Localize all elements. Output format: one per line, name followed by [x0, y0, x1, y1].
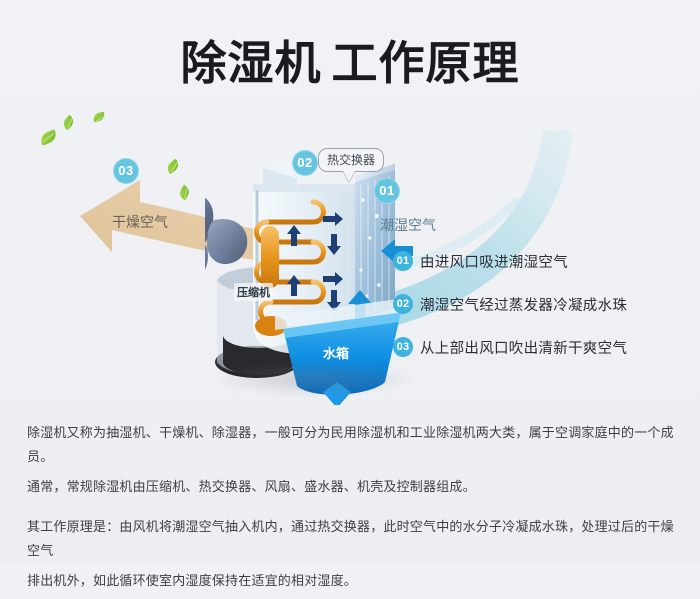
list-item: 01 由进风口吸进潮湿空气 — [393, 250, 693, 272]
leaf-icon — [61, 115, 76, 131]
step-badge-02: 02 — [393, 294, 413, 314]
paragraph-2: 其工作原理是：由风机将潮湿空气抽入机内，通过热交换器，此时空气中的水分子冷凝成水… — [27, 515, 675, 563]
page-root: 除湿机工作原理 — [0, 0, 700, 566]
compressor-label: 压缩机 — [234, 283, 273, 301]
water-tank-label: 水箱 — [320, 342, 352, 363]
list-item: 03 从上部出风口吹出清新干爽空气 — [393, 336, 693, 358]
leaf-icon — [39, 129, 59, 146]
step-badge-03: 03 — [393, 337, 413, 357]
steps-list: 01 由进风口吸进潮湿空气 02 潮湿空气经过蒸发器冷凝成水珠 03 从上部出风… — [393, 250, 693, 358]
step-text-03: 从上部出风口吹出清新干爽空气 — [420, 337, 627, 358]
page-title-main: 除湿机 — [181, 37, 322, 89]
diagram-badge-01: 01 — [374, 178, 400, 204]
heat-exchanger-callout-text: 热交换器 — [327, 153, 375, 167]
step-text-02: 潮湿空气经过蒸发器冷凝成水珠 — [420, 294, 627, 315]
leaf-icon — [92, 112, 106, 123]
body-copy: 除湿机又称为抽湿机、干燥机、除湿器，一般可分为民用除湿机和工业除湿机两大类，属于… — [27, 421, 675, 599]
diagram-badge-03: 03 — [113, 158, 139, 184]
heat-exchanger-callout: 热交换器 — [318, 148, 384, 172]
list-item: 02 潮湿空气经过蒸发器冷凝成水珠 — [393, 293, 693, 315]
step-text-01: 由进风口吸进潮湿空气 — [420, 251, 568, 272]
paragraph-1b: 通常，常规除湿机由压缩机、热交换器、风扇、盛水器、机壳及控制器组成。 — [27, 475, 675, 499]
callout-pointer-icon — [343, 171, 355, 182]
page-title-sub: 工作原理 — [332, 37, 520, 89]
humid-air-label: 潮湿空气 — [380, 215, 436, 235]
step-badge-01: 01 — [393, 251, 413, 271]
diagram-badge-02: 02 — [292, 150, 318, 176]
machine-floor-shadow — [215, 362, 410, 396]
paragraph-2-line-1: 其工作原理是：由风机将潮湿空气抽入机内，通过热交换器，此时空气中的水分子冷凝成水… — [27, 519, 674, 558]
paragraph-2b: 排出机外，如此循环使室内湿度保持在适宜的相对湿度。 — [27, 569, 675, 593]
paragraph-1-line-1: 除湿机又称为抽湿机、干燥机、除湿器，一般可分为民用除湿机和工业除湿机两大类，属于… — [27, 425, 674, 464]
page-title: 除湿机工作原理 — [0, 33, 700, 93]
paragraph-1-line-2: 通常，常规除湿机由压缩机、热交换器、风扇、盛水器、机壳及控制器组成。 — [27, 479, 476, 494]
paragraph-2-line-2: 排出机外，如此循环使室内湿度保持在适宜的相对湿度。 — [27, 573, 357, 588]
paragraph-1: 除湿机又称为抽湿机、干燥机、除湿器，一般可分为民用除湿机和工业除湿机两大类，属于… — [27, 421, 675, 469]
dry-air-label: 干燥空气 — [112, 212, 168, 232]
